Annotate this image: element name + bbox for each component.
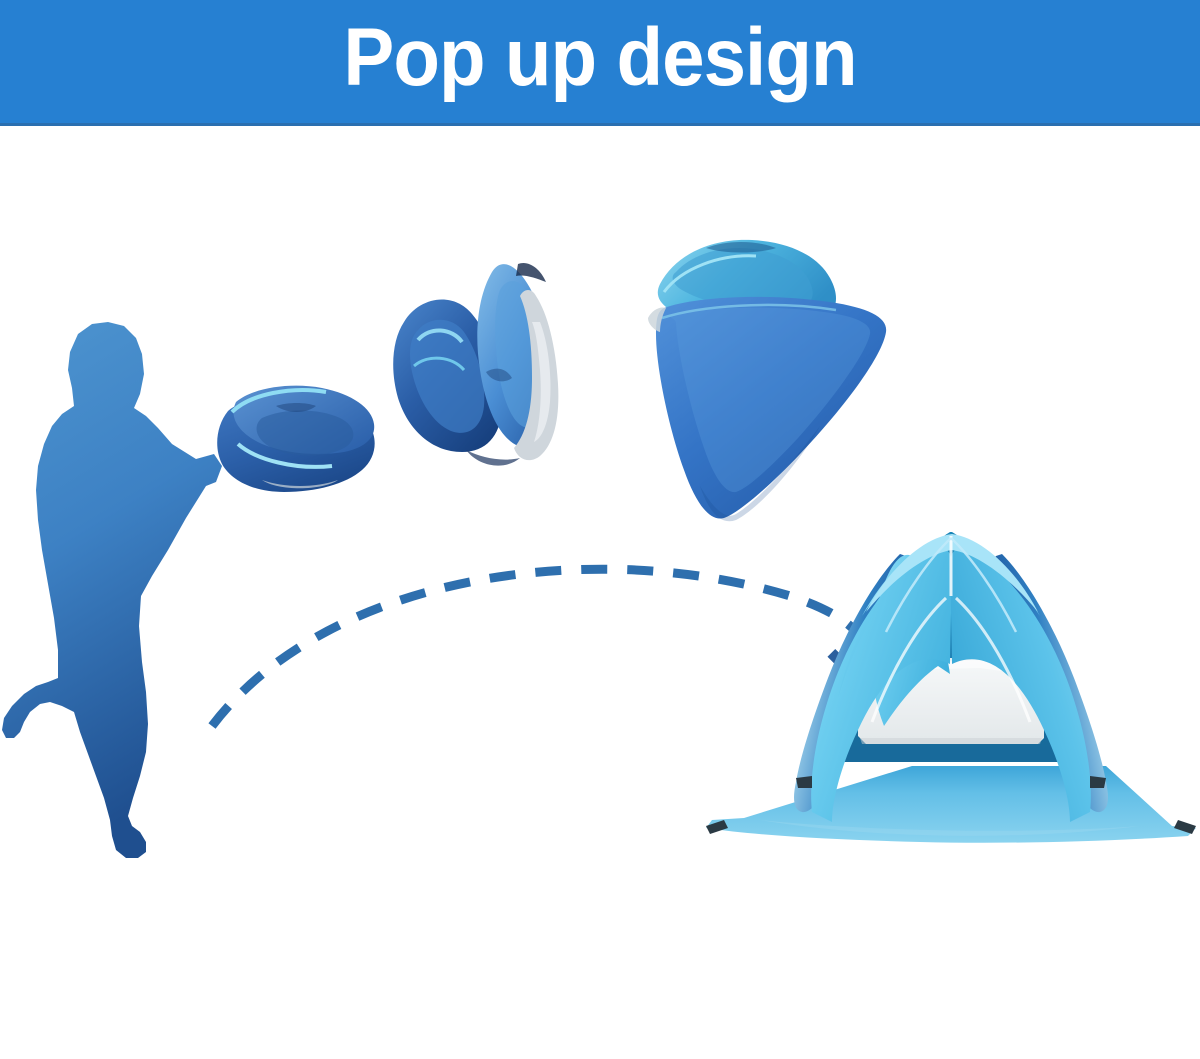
illustration-svg: [0, 126, 1200, 1059]
fold-stage-3-folded-bundle-triangle: [648, 240, 886, 521]
tent-stake-right-rear: [1090, 776, 1106, 788]
page-title: Pop up design: [42, 0, 1158, 123]
header-banner: Pop up design: [0, 0, 1200, 126]
open-beach-tent: [706, 532, 1196, 843]
dashed-trajectory-arc: [212, 569, 877, 726]
fold-stage-1-folded-bundle-flat: [217, 386, 374, 492]
fold-stage-2-folded-bundle-opening: [393, 263, 558, 466]
person-throwing-tent-silhouette: [2, 322, 222, 858]
tent-stake-left-rear: [796, 776, 812, 788]
illustration-stage: Let you prepare this beach tent in a mat…: [0, 126, 1200, 1059]
infographic-page: Pop up design: [0, 0, 1200, 1059]
